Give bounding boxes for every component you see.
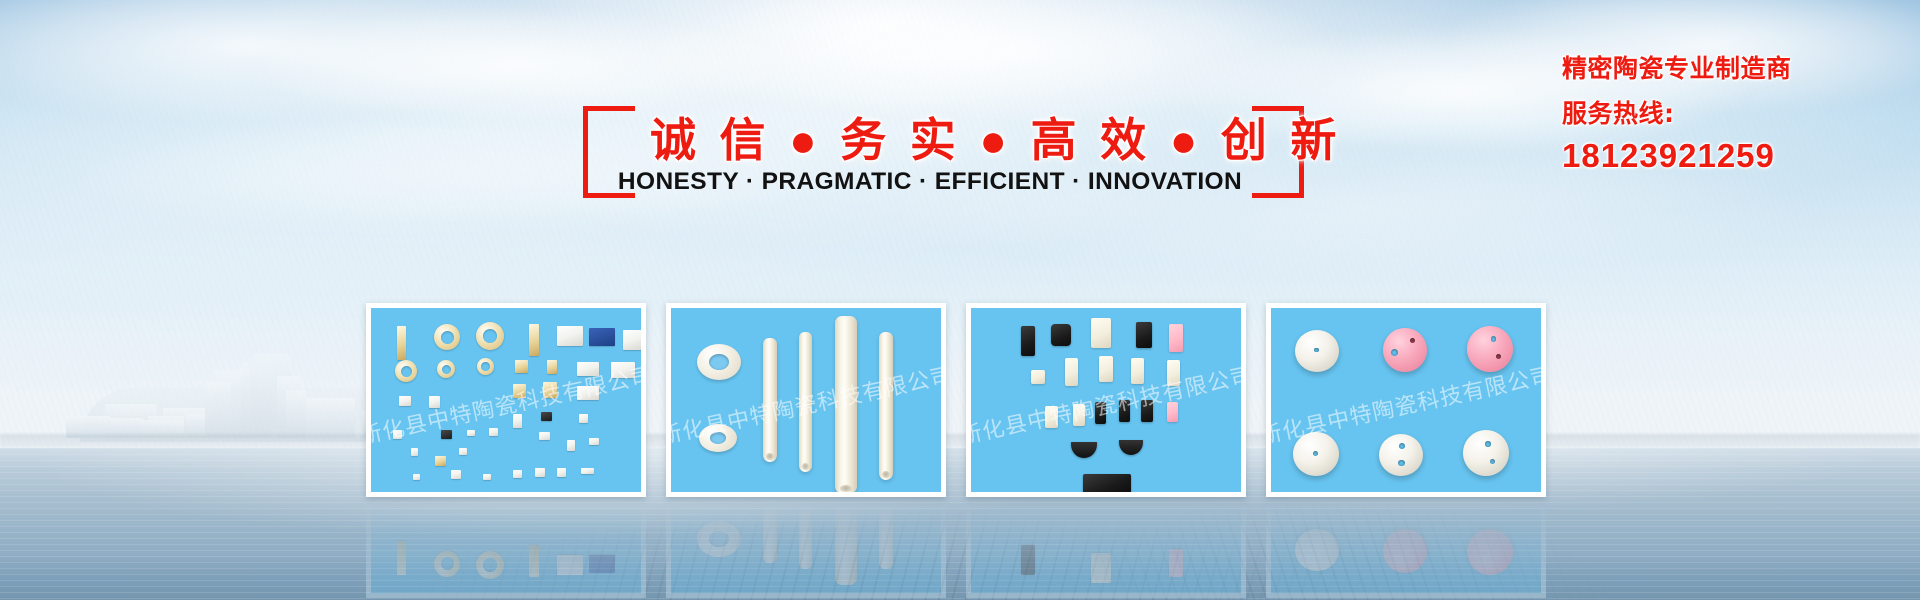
product-panel-smd-ceramic-components[interactable]: 新化县中特陶瓷科技有限公司 — [366, 303, 646, 497]
panel-frame: 新化县中特陶瓷科技有限公司 — [966, 303, 1246, 497]
product-panel-strip: 新化县中特陶瓷科技有限公司 — [0, 0, 1920, 600]
panel-reflection — [366, 502, 646, 598]
promo-banner: 诚 信 ● 务 实 ● 高 效 ● 创 新 HONESTY · PRAGMATI… — [0, 0, 1920, 600]
product-panel-ceramic-tubes-and-rings[interactable]: 新化县中特陶瓷科技有限公司 — [666, 303, 946, 497]
product-panel-ceramic-blocks-and-arcs[interactable]: 新化县中特陶瓷科技有限公司 — [966, 303, 1246, 497]
panel-reflection — [666, 502, 946, 598]
panel-frame: 新化县中特陶瓷科技有限公司 — [366, 303, 646, 497]
panel-frame: 新化县中特陶瓷科技有限公司 — [1266, 303, 1546, 497]
panel-photo: 新化县中特陶瓷科技有限公司 — [371, 308, 641, 492]
panel-photo: 新化县中特陶瓷科技有限公司 — [971, 308, 1241, 492]
panel-frame: 新化县中特陶瓷科技有限公司 — [666, 303, 946, 497]
panel-photo: 新化县中特陶瓷科技有限公司 — [671, 308, 941, 492]
product-panel-ceramic-discs[interactable]: 新化县中特陶瓷科技有限公司 — [1266, 303, 1546, 497]
panel-reflection — [966, 502, 1246, 598]
panel-reflection — [1266, 502, 1546, 598]
panel-photo: 新化县中特陶瓷科技有限公司 — [1271, 308, 1541, 492]
